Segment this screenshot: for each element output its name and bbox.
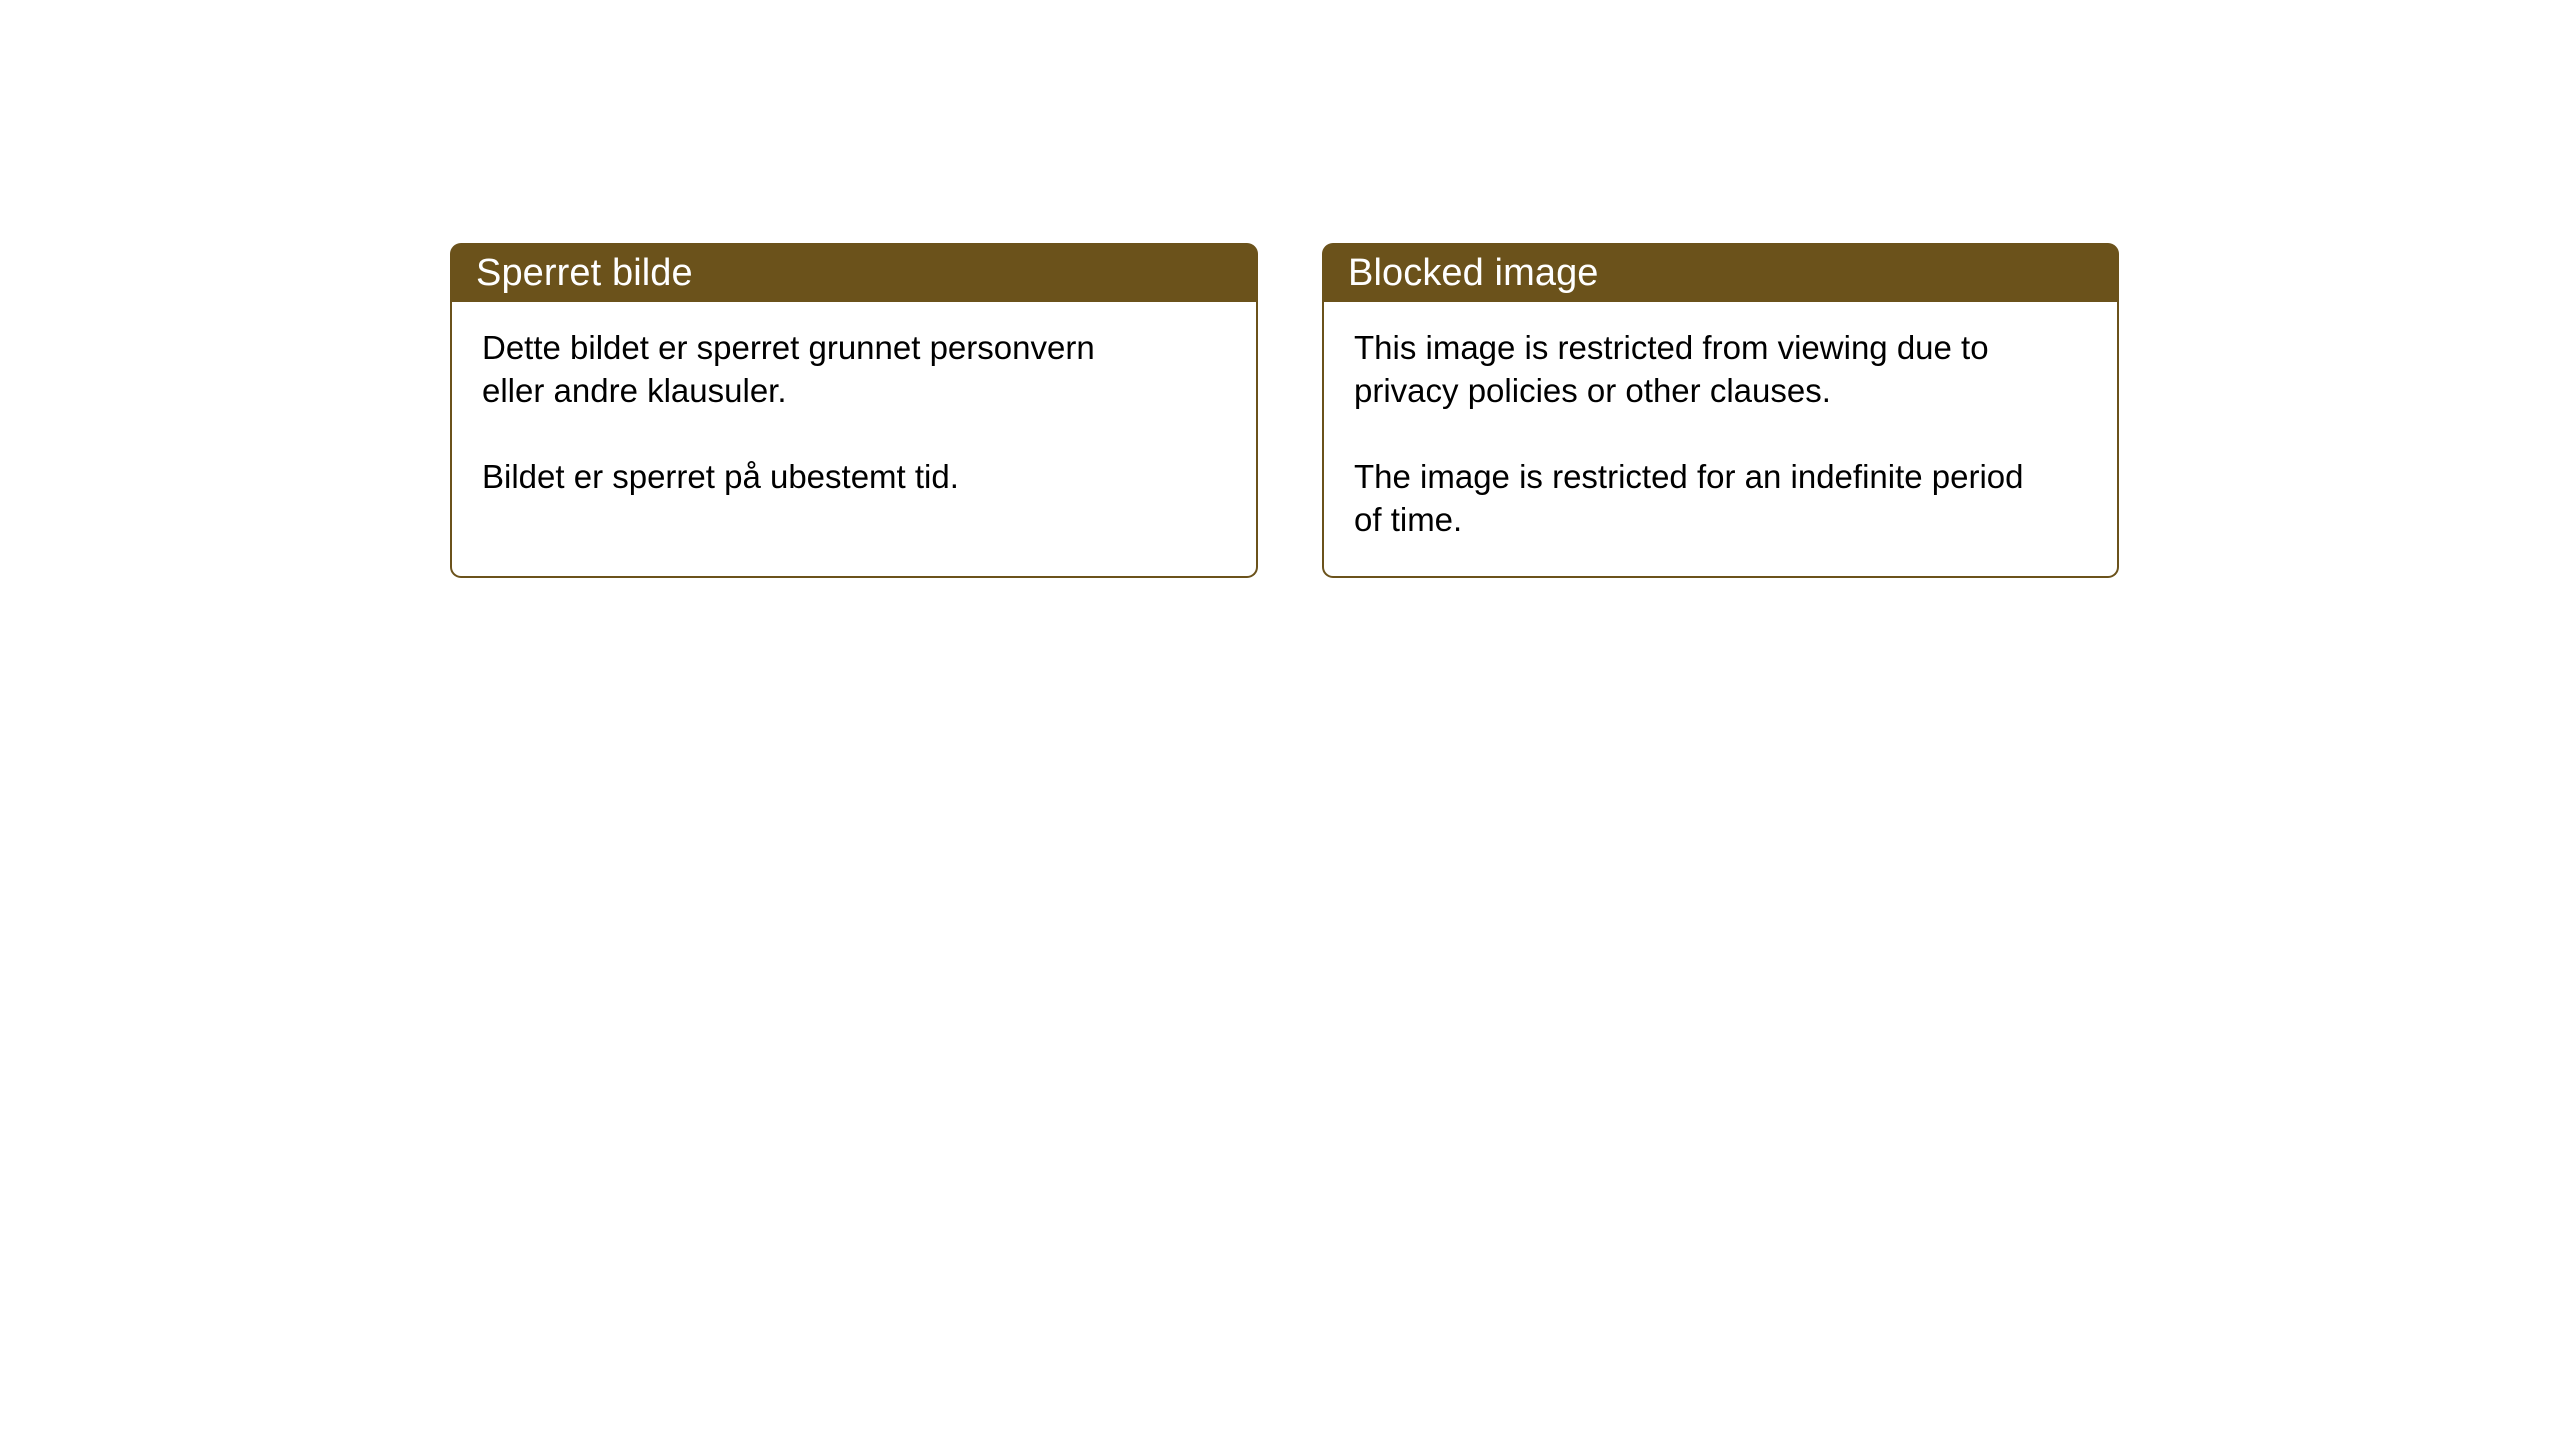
card-title-en: Blocked image bbox=[1348, 251, 1599, 295]
card-header-no: Sperret bilde bbox=[450, 243, 1258, 302]
card-body-no: Dette bildet er sperret grunnet personve… bbox=[450, 302, 1258, 578]
card-paragraph-secondary-no: Bildet er sperret på ubestemt tid. bbox=[482, 455, 1234, 498]
card-header-en: Blocked image bbox=[1322, 243, 2119, 302]
blocked-image-notice-no: Sperret bilde Dette bildet er sperret gr… bbox=[450, 243, 1258, 578]
blocked-image-notice-en: Blocked image This image is restricted f… bbox=[1322, 243, 2119, 578]
page-root: Sperret bilde Dette bildet er sperret gr… bbox=[0, 0, 2560, 1440]
card-paragraph-primary-en: This image is restricted from viewing du… bbox=[1354, 326, 2095, 412]
card-paragraph-secondary-en: The image is restricted for an indefinit… bbox=[1354, 455, 2095, 541]
card-paragraph-primary-no: Dette bildet er sperret grunnet personve… bbox=[482, 326, 1234, 412]
card-body-en: This image is restricted from viewing du… bbox=[1322, 302, 2119, 578]
card-title-no: Sperret bilde bbox=[476, 251, 693, 295]
